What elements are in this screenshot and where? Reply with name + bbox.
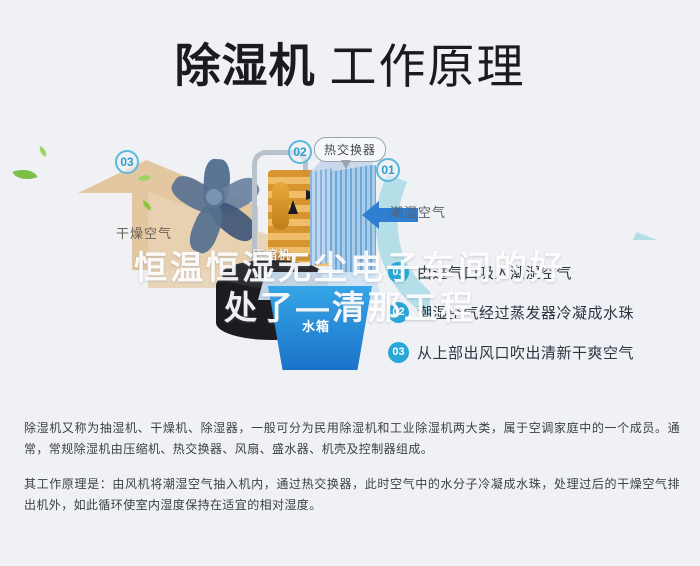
diagram-badge-01: 01	[376, 158, 400, 182]
step-item: 03 从上部出风口吹出清新干爽空气	[388, 332, 688, 372]
body-paragraph-1: 除湿机又称为抽湿机、干燥机、除湿器，一般可分为民用除湿机和工业除湿机两大类，属于…	[24, 418, 680, 460]
heat-exchanger-fins-rear	[310, 168, 332, 265]
swoosh-mask-top	[372, 120, 692, 170]
label-compressor: 压缩机	[252, 246, 291, 263]
callout-heat-exchanger: 热交换器	[314, 137, 386, 162]
page-title-light: 工作原理	[330, 40, 526, 93]
step-item: 02 潮湿空气经过蒸发器冷凝成水珠	[388, 292, 688, 332]
page-title: 除湿机工作原理	[0, 28, 700, 97]
diagram-badge-03: 03	[115, 150, 139, 174]
body-paragraph-2: 其工作原理是：由风机将潮湿空气抽入机内，通过热交换器，此时空气中的水分子冷凝成水…	[24, 474, 680, 516]
fan-hub	[203, 186, 225, 208]
diagram-badge-02: 02	[288, 140, 312, 164]
infographic-page: 除湿机工作原理 干燥空气 03	[0, 0, 700, 566]
flow-arrow-up-icon	[288, 200, 298, 214]
label-humid-air: 潮湿空气	[390, 202, 446, 221]
step-item: 01 由进气口吸入潮湿空气	[388, 252, 688, 292]
step-label: 由进气口吸入潮湿空气	[417, 262, 572, 283]
step-label: 从上部出风口吹出清新干爽空气	[417, 342, 634, 363]
step-number-badge: 01	[388, 262, 409, 283]
body-copy: 除湿机又称为抽湿机、干燥机、除湿器，一般可分为民用除湿机和工业除湿机两大类，属于…	[24, 418, 680, 516]
step-label: 潮湿空气经过蒸发器冷凝成水珠	[417, 302, 634, 323]
steps-list: 01 由进气口吸入潮湿空气 02 潮湿空气经过蒸发器冷凝成水珠 03 从上部出风…	[388, 252, 688, 372]
receiver-tank	[272, 182, 289, 230]
leaf-icon	[13, 165, 38, 184]
page-title-bold: 除湿机	[175, 40, 316, 92]
label-water-tank: 水箱	[302, 316, 330, 335]
step-number-badge: 02	[388, 302, 409, 323]
leaf-icon	[37, 146, 49, 157]
step-number-badge: 03	[388, 342, 409, 363]
